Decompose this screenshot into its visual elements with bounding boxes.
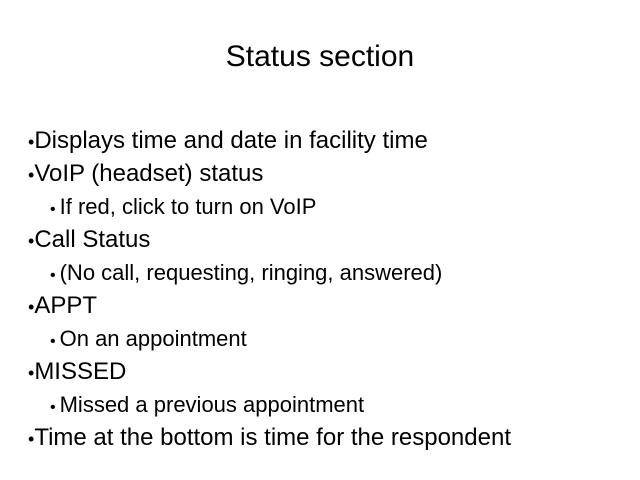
bullet-point-icon: •	[50, 259, 56, 292]
bullet-list: •Displays time and date in facility time…	[28, 124, 628, 454]
bullet-item: •On an appointment	[50, 322, 628, 355]
bullet-point-icon: •	[50, 325, 56, 358]
bullet-item-label: Time at the bottom is time for the respo…	[34, 424, 511, 451]
bullet-item-label: On an appointment	[60, 326, 247, 351]
bullet-item: •MISSED	[28, 355, 628, 388]
bullet-item: •APPT	[28, 289, 628, 322]
bullet-item-label: Missed a previous appointment	[60, 392, 365, 417]
bullet-item: •(No call, requesting, ringing, answered…	[50, 256, 628, 289]
slide-canvas: Status section •Displays time and date i…	[0, 0, 640, 480]
bullet-item-label: Call Status	[34, 226, 150, 253]
bullet-item-label: APPT	[34, 292, 97, 319]
bullet-item-label: VoIP (headset) status	[34, 160, 263, 187]
bullet-item: •Missed a previous appointment	[50, 388, 628, 421]
bullet-item: •Displays time and date in facility time	[28, 124, 628, 157]
bullet-item-label: (No call, requesting, ringing, answered)	[60, 260, 443, 285]
bullet-point-icon: •	[50, 193, 56, 226]
bullet-item: •Call Status	[28, 223, 628, 256]
bullet-item: •If red, click to turn on VoIP	[50, 190, 628, 223]
bullet-item-label: If red, click to turn on VoIP	[60, 194, 317, 219]
bullet-item: •Time at the bottom is time for the resp…	[28, 421, 628, 454]
bullet-item-label: Displays time and date in facility time	[34, 127, 428, 154]
bullet-item-label: MISSED	[34, 358, 126, 385]
slide-title: Status section	[0, 40, 640, 74]
bullet-item: •VoIP (headset) status	[28, 157, 628, 190]
bullet-point-icon: •	[50, 391, 56, 424]
